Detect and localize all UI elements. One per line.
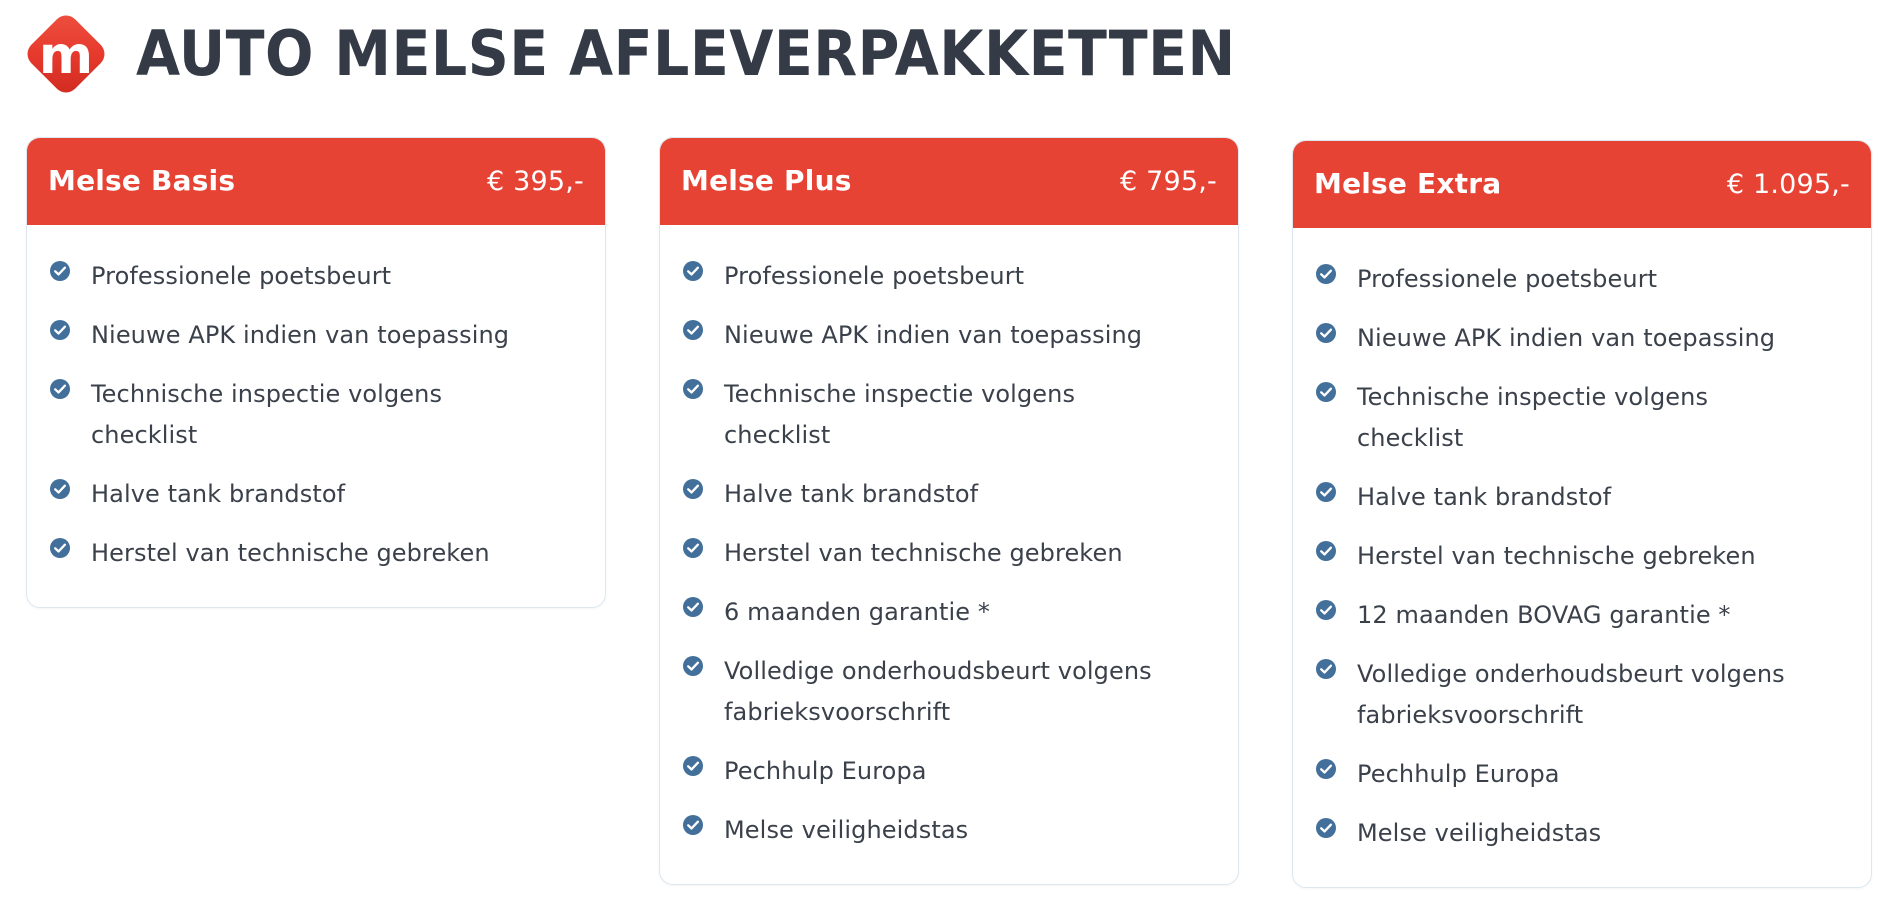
list-item: Herstel van technische gebreken xyxy=(682,524,1216,583)
package-card-plus[interactable]: Melse Plus € 795,- Professionele poetsbe… xyxy=(659,137,1239,885)
check-circle-icon xyxy=(1315,658,1337,680)
check-circle-icon xyxy=(1315,481,1337,503)
list-item: Herstel van technische gebreken xyxy=(49,524,583,583)
package-card-header: Melse Basis € 395,- xyxy=(26,137,606,225)
feature-label: 6 maanden garantie * xyxy=(724,592,990,633)
list-item: Halve tank brandstof xyxy=(682,465,1216,524)
list-item: Volledige onderhoudsbeurt volgens fabrie… xyxy=(1315,645,1849,745)
feature-label: Nieuwe APK indien van toepassing xyxy=(91,315,509,356)
feature-label: Halve tank brandstof xyxy=(91,474,345,515)
feature-label: Technische inspectie volgens checklist xyxy=(1357,377,1817,459)
feature-label: Professionele poetsbeurt xyxy=(724,256,1024,297)
feature-label: 12 maanden BOVAG garantie * xyxy=(1357,595,1731,636)
feature-list: Professionele poetsbeurt Nieuwe APK indi… xyxy=(27,225,605,607)
list-item: Professionele poetsbeurt xyxy=(682,247,1216,306)
feature-label: Technische inspectie volgens checklist xyxy=(91,374,551,456)
list-item: Professionele poetsbeurt xyxy=(49,247,583,306)
list-item: Halve tank brandstof xyxy=(1315,468,1849,527)
list-item: Melse veiligheidstas xyxy=(682,801,1216,860)
check-circle-icon xyxy=(49,537,71,559)
feature-label: Technische inspectie volgens checklist xyxy=(724,374,1184,456)
list-item: Pechhulp Europa xyxy=(1315,745,1849,804)
feature-label: Nieuwe APK indien van toepassing xyxy=(724,315,1142,356)
check-circle-icon xyxy=(49,260,71,282)
package-card-extra[interactable]: Melse Extra € 1.095,- Professionele poet… xyxy=(1292,140,1872,888)
feature-label: Pechhulp Europa xyxy=(724,751,927,792)
feature-label: Herstel van technische gebreken xyxy=(91,533,490,574)
feature-label: Melse veiligheidstas xyxy=(724,810,968,851)
package-name: Melse Extra xyxy=(1314,170,1501,198)
melse-diamond-logo-icon: m xyxy=(18,6,114,102)
check-circle-icon xyxy=(1315,540,1337,562)
page-title: AUTO MELSE AFLEVERPAKKETTEN xyxy=(136,23,1236,85)
package-price: € 1.095,- xyxy=(1727,171,1850,198)
list-item: 12 maanden BOVAG garantie * xyxy=(1315,586,1849,645)
check-circle-icon xyxy=(682,319,704,341)
feature-label: Volledige onderhoudsbeurt volgens fabrie… xyxy=(724,651,1184,733)
check-circle-icon xyxy=(49,319,71,341)
check-circle-icon xyxy=(1315,817,1337,839)
feature-label: Halve tank brandstof xyxy=(724,474,978,515)
check-circle-icon xyxy=(682,537,704,559)
svg-text:m: m xyxy=(39,26,93,86)
check-circle-icon xyxy=(1315,322,1337,344)
package-price: € 395,- xyxy=(487,168,584,195)
feature-label: Melse veiligheidstas xyxy=(1357,813,1601,854)
check-circle-icon xyxy=(682,260,704,282)
check-circle-icon xyxy=(682,755,704,777)
check-circle-icon xyxy=(682,596,704,618)
check-circle-icon xyxy=(1315,263,1337,285)
list-item: Herstel van technische gebreken xyxy=(1315,527,1849,586)
package-cards: Melse Basis € 395,- Professionele poetsb… xyxy=(26,137,1874,888)
list-item: Nieuwe APK indien van toepassing xyxy=(1315,309,1849,368)
check-circle-icon xyxy=(1315,599,1337,621)
list-item: Technische inspectie volgens checklist xyxy=(682,365,1216,465)
feature-list: Professionele poetsbeurt Nieuwe APK indi… xyxy=(660,225,1238,884)
check-circle-icon xyxy=(682,814,704,836)
page-root: m AUTO MELSE AFLEVERPAKKETTEN Melse Basi… xyxy=(0,0,1900,900)
feature-label: Herstel van technische gebreken xyxy=(724,533,1123,574)
package-card-header: Melse Extra € 1.095,- xyxy=(1292,140,1872,228)
check-circle-icon xyxy=(682,478,704,500)
feature-label: Herstel van technische gebreken xyxy=(1357,536,1756,577)
check-circle-icon xyxy=(49,378,71,400)
check-circle-icon xyxy=(682,378,704,400)
feature-label: Halve tank brandstof xyxy=(1357,477,1611,518)
list-item: Halve tank brandstof xyxy=(49,465,583,524)
check-circle-icon xyxy=(49,478,71,500)
feature-label: Professionele poetsbeurt xyxy=(91,256,391,297)
package-name: Melse Basis xyxy=(48,167,235,195)
package-card-header: Melse Plus € 795,- xyxy=(659,137,1239,225)
check-circle-icon xyxy=(1315,381,1337,403)
feature-label: Volledige onderhoudsbeurt volgens fabrie… xyxy=(1357,654,1817,736)
feature-label: Professionele poetsbeurt xyxy=(1357,259,1657,300)
list-item: Technische inspectie volgens checklist xyxy=(49,365,583,465)
list-item: Melse veiligheidstas xyxy=(1315,804,1849,863)
feature-label: Pechhulp Europa xyxy=(1357,754,1560,795)
feature-list: Professionele poetsbeurt Nieuwe APK indi… xyxy=(1293,228,1871,887)
list-item: Pechhulp Europa xyxy=(682,742,1216,801)
package-card-basis[interactable]: Melse Basis € 395,- Professionele poetsb… xyxy=(26,137,606,608)
package-name: Melse Plus xyxy=(681,167,852,195)
list-item: 6 maanden garantie * xyxy=(682,583,1216,642)
list-item: Nieuwe APK indien van toepassing xyxy=(49,306,583,365)
list-item: Professionele poetsbeurt xyxy=(1315,250,1849,309)
feature-label: Nieuwe APK indien van toepassing xyxy=(1357,318,1775,359)
list-item: Volledige onderhoudsbeurt volgens fabrie… xyxy=(682,642,1216,742)
list-item: Nieuwe APK indien van toepassing xyxy=(682,306,1216,365)
list-item: Technische inspectie volgens checklist xyxy=(1315,368,1849,468)
check-circle-icon xyxy=(682,655,704,677)
check-circle-icon xyxy=(1315,758,1337,780)
package-price: € 795,- xyxy=(1120,168,1217,195)
page-header: m AUTO MELSE AFLEVERPAKKETTEN xyxy=(18,0,1331,108)
